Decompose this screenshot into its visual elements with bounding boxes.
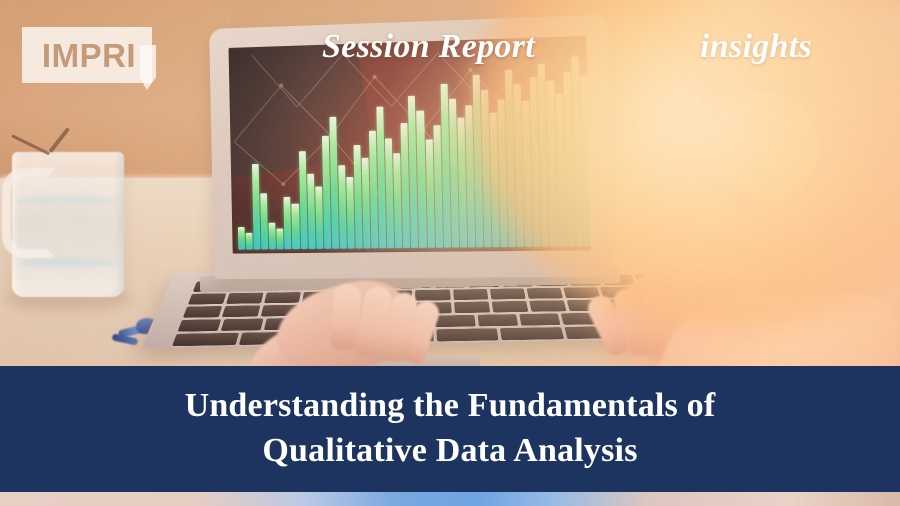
page-title-line-2: Qualitative Data Analysis [262,429,637,474]
insights-label: insights [700,28,812,66]
title-band: Understanding the Fundamentals of Qualit… [0,366,900,492]
impri-logo[interactable]: IMPRI [22,27,152,83]
session-report-label: Session Report [322,28,535,66]
page-title-line-1: Understanding the Fundamentals of [185,384,716,429]
session-report-banner: IMPRI Session Report insights Understand… [0,0,900,506]
bottom-photo-strip [0,492,900,506]
impri-logo-text: IMPRI [38,39,136,72]
